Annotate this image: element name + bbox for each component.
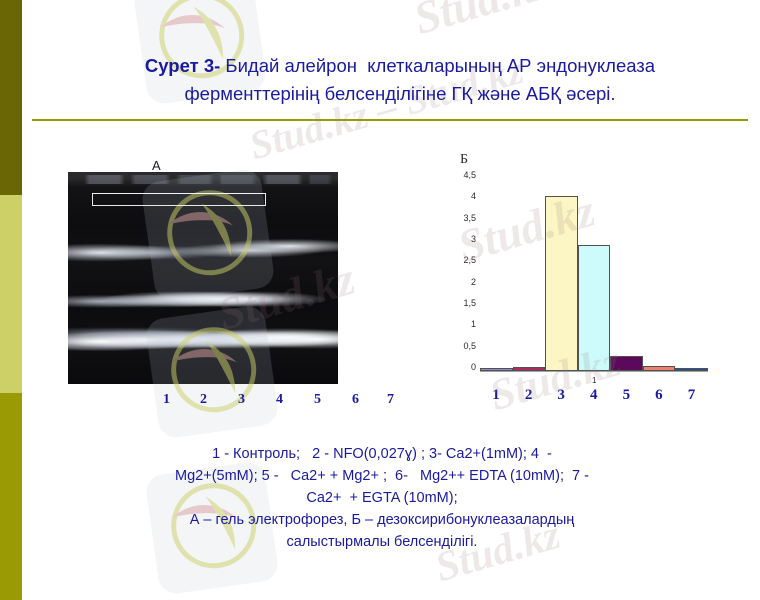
gel-panel-label: A [152, 158, 161, 173]
figure-caption: 1 - Контроль; 2 - NFO(0,027ɣ) ; 3- Ca2+(… [58, 443, 706, 553]
chart-x-tick-5: 5 [623, 387, 631, 404]
y-tick-3: 3 [471, 235, 476, 244]
chart-panel-label: Б [460, 152, 468, 168]
title-divider-rule [32, 119, 748, 121]
chart-x-tick-3: 3 [557, 387, 565, 404]
chart-x-axis-tick-labels: 1234567 [480, 387, 715, 407]
y-tick-0: 0 [471, 363, 476, 372]
caption-line-2: Mg2+(5mM); 5 - Ca2+ + Mg2+ ; 6- Mg2++ ED… [58, 465, 706, 487]
gel-lane-bracket [92, 193, 266, 206]
gel-lane-number-row: 1234567 [163, 392, 403, 410]
y-tick-0-5: 0,5 [463, 342, 476, 351]
chart-y-axis-tick-labels: 4,543,532,521,510,50 [442, 175, 476, 375]
chart-x-tick-1: 1 [492, 387, 500, 404]
gel-lane-number-4: 4 [276, 392, 283, 408]
y-tick-3-5: 3,5 [463, 214, 476, 223]
y-tick-2: 2 [471, 278, 476, 287]
chart-plot-area [480, 179, 708, 371]
chart-x-tick-2: 2 [525, 387, 533, 404]
caption-line-5: салыстырмалы белсенділігі. [58, 531, 706, 553]
y-tick-1-5: 1,5 [463, 299, 476, 308]
chart-bar-4 [578, 245, 611, 371]
gel-lane-number-2: 2 [200, 392, 207, 408]
y-tick-2-5: 2,5 [463, 256, 476, 265]
side-band-bottom [0, 393, 22, 600]
slide-title: Сурет 3- Бидай алейрон клеткаларының АР … [110, 52, 690, 108]
y-tick-4-5: 4,5 [463, 171, 476, 180]
title-rest: Бидай алейрон клеткаларының АР эндонукле… [184, 55, 660, 104]
chart-baseline-axis [480, 371, 708, 372]
chart-bar-3 [545, 196, 578, 371]
chart-bar-5 [610, 356, 643, 371]
chart-x-tick-7: 7 [688, 387, 696, 404]
gel-lane-number-7: 7 [387, 392, 394, 408]
side-band-middle [0, 195, 22, 393]
gel-lane-number-6: 6 [352, 392, 359, 408]
caption-line-4: А – гель электрофорез, Б – дезоксирибону… [58, 509, 706, 531]
chart-series-label: 1 [592, 376, 596, 385]
page-title: Сурет 3- Бидай алейрон клеткаларының АР … [110, 52, 690, 108]
y-tick-4: 4 [471, 192, 476, 201]
y-tick-1: 1 [471, 320, 476, 329]
gel-lane-number-1: 1 [163, 392, 170, 408]
gel-loading-wells [68, 175, 338, 184]
chart-x-tick-4: 4 [590, 387, 598, 404]
side-band-top [0, 0, 22, 195]
gel-lane-number-3: 3 [238, 392, 245, 408]
watermark-text-1: Stud.kz [408, 0, 557, 45]
gel-lane-number-5: 5 [314, 392, 321, 408]
title-lead: Сурет 3- [145, 55, 220, 76]
chart-x-tick-6: 6 [655, 387, 663, 404]
caption-line-3: Ca2+ + EGTA (10mM); [58, 487, 706, 509]
decorative-side-bands [0, 0, 22, 600]
caption-line-1: 1 - Контроль; 2 - NFO(0,027ɣ) ; 3- Ca2+(… [58, 443, 706, 465]
activity-bar-chart-panel: Б 4,543,532,521,510,50 1 1234567 [440, 150, 740, 420]
